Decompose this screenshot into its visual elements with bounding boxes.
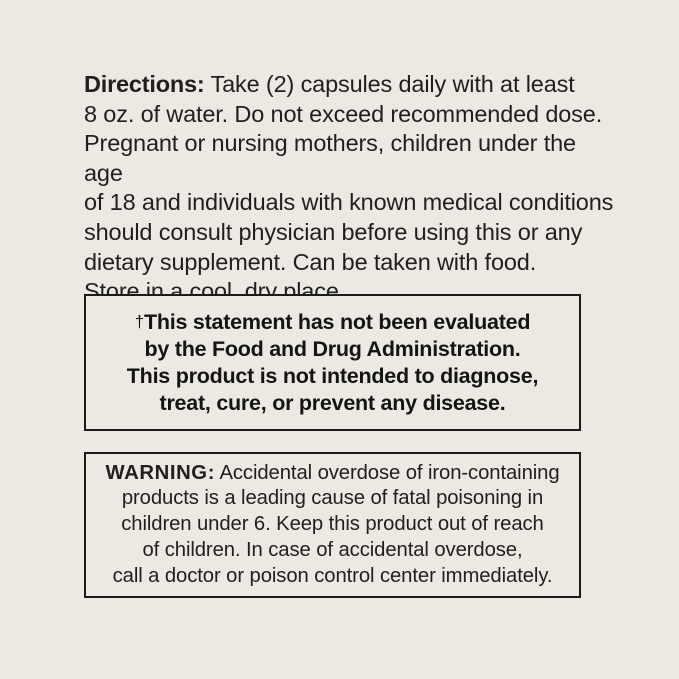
directions-block: Directions: Take (2) capsules daily with… xyxy=(84,70,614,307)
dagger-icon: † xyxy=(135,312,144,331)
iron-warning-box: WARNING: Accidental overdose of iron-con… xyxy=(84,452,581,598)
fda-disclaimer-paragraph: †This statement has not been evaluated b… xyxy=(119,308,546,418)
directions-lead-label: Directions: xyxy=(84,71,205,97)
fda-disclaimer-body-text: This statement has not been evaluated by… xyxy=(127,310,538,416)
supplement-label-panel: Directions: Take (2) capsules daily with… xyxy=(0,0,679,679)
fda-disclaimer-box: †This statement has not been evaluated b… xyxy=(84,294,581,431)
directions-paragraph: Directions: Take (2) capsules daily with… xyxy=(84,70,614,307)
iron-warning-lead-label: WARNING: xyxy=(105,462,215,484)
directions-body-text: Take (2) capsules daily with at least 8 … xyxy=(84,71,613,304)
iron-warning-paragraph: WARNING: Accidental overdose of iron-con… xyxy=(95,461,569,590)
